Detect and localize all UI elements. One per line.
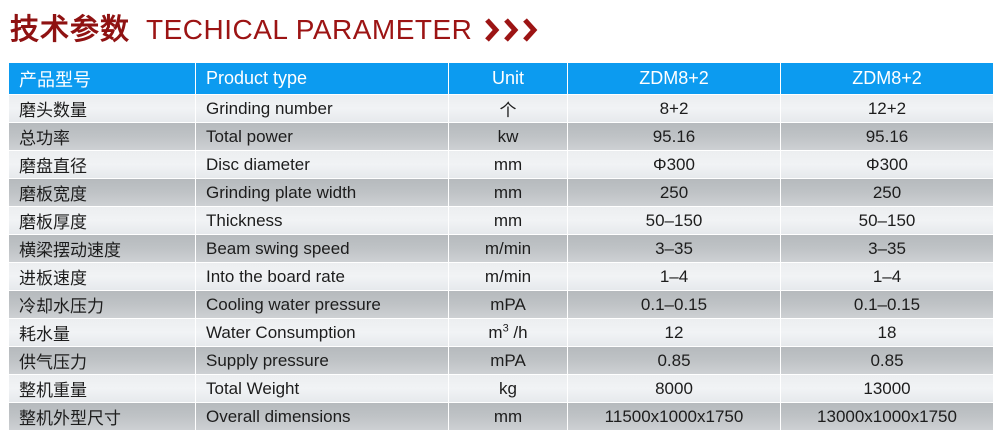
cell-name-en: Into the board rate [196, 263, 448, 290]
cell-unit: m3 /h [449, 319, 567, 346]
table-row: 磨盘直径Disc diametermmΦ300Φ300 [9, 151, 993, 178]
table-row: 总功率Total powerkw95.1695.16 [9, 123, 993, 150]
cell-unit: kw [449, 123, 567, 150]
cell-name-cn: 磨板宽度 [9, 179, 195, 206]
cell-name-en: Supply pressure [196, 347, 448, 374]
cell-name-cn: 整机重量 [9, 375, 195, 402]
cell-unit: m/min [449, 263, 567, 290]
column-header-model-1: ZDM8+2 [568, 63, 780, 94]
cell-name-en: Total power [196, 123, 448, 150]
table-row: 耗水量Water Consumptionm3 /h1218 [9, 319, 993, 346]
cell-model-1: 11500x1000x1750 [568, 403, 780, 430]
cell-name-cn: 总功率 [9, 123, 195, 150]
cell-name-cn: 冷却水压力 [9, 291, 195, 318]
table-row: 横梁摆动速度Beam swing speedm/min3–353–35 [9, 235, 993, 262]
cell-model-1: 95.16 [568, 123, 780, 150]
cell-name-cn: 供气压力 [9, 347, 195, 374]
spec-table-wrapper: 产品型号 Product type Unit ZDM8+2 ZDM8+2 磨头数… [8, 62, 992, 431]
table-row: 进板速度Into the board ratem/min1–41–4 [9, 263, 993, 290]
cell-unit: mm [449, 403, 567, 430]
cell-model-2: 13000x1000x1750 [781, 403, 993, 430]
page-title-chinese: 技术参数 [10, 16, 130, 45]
cell-name-cn: 耗水量 [9, 319, 195, 346]
cell-name-en: Grinding number [196, 95, 448, 122]
cell-model-2: Φ300 [781, 151, 993, 178]
cell-model-1: 0.1–0.15 [568, 291, 780, 318]
cell-model-1: 8000 [568, 375, 780, 402]
cell-name-cn: 进板速度 [9, 263, 195, 290]
cell-name-cn: 磨盘直径 [9, 151, 195, 178]
technical-parameter-table: 产品型号 Product type Unit ZDM8+2 ZDM8+2 磨头数… [8, 62, 994, 431]
cell-name-en: Water Consumption [196, 319, 448, 346]
cell-name-en: Cooling water pressure [196, 291, 448, 318]
column-header-product-type-cn: 产品型号 [9, 63, 195, 94]
page-title-english: TECHICAL PARAMETER [146, 16, 472, 44]
table-row: 冷却水压力Cooling water pressuremPA0.1–0.150.… [9, 291, 993, 318]
cell-model-1: 8+2 [568, 95, 780, 122]
cell-unit: kg [449, 375, 567, 402]
cell-model-1: 0.85 [568, 347, 780, 374]
cell-name-en: Thickness [196, 207, 448, 234]
cell-model-2: 18 [781, 319, 993, 346]
table-row: 磨头数量Grinding number个8+212+2 [9, 95, 993, 122]
table-row: 供气压力Supply pressuremPA0.850.85 [9, 347, 993, 374]
cell-name-en: Beam swing speed [196, 235, 448, 262]
cell-model-1: Φ300 [568, 151, 780, 178]
cell-model-2: 95.16 [781, 123, 993, 150]
double-chevron-right-icon [484, 17, 540, 43]
column-header-product-type-en: Product type [196, 63, 448, 94]
cell-name-cn: 磨板厚度 [9, 207, 195, 234]
cell-model-1: 3–35 [568, 235, 780, 262]
cell-name-en: Total Weight [196, 375, 448, 402]
cell-model-2: 0.85 [781, 347, 993, 374]
cell-name-cn: 整机外型尺寸 [9, 403, 195, 430]
table-row: 磨板厚度Thicknessmm50–15050–150 [9, 207, 993, 234]
cell-model-1: 50–150 [568, 207, 780, 234]
table-body: 磨头数量Grinding number个8+212+2总功率Total powe… [9, 95, 993, 430]
cell-unit: mm [449, 179, 567, 206]
cell-model-2: 0.1–0.15 [781, 291, 993, 318]
cell-name-en: Grinding plate width [196, 179, 448, 206]
cell-model-2: 250 [781, 179, 993, 206]
cell-unit: mPA [449, 291, 567, 318]
cell-unit: m/min [449, 235, 567, 262]
cell-model-2: 1–4 [781, 263, 993, 290]
cell-name-en: Disc diameter [196, 151, 448, 178]
cell-model-2: 3–35 [781, 235, 993, 262]
column-header-model-2: ZDM8+2 [781, 63, 993, 94]
cell-model-2: 13000 [781, 375, 993, 402]
cell-unit: mm [449, 151, 567, 178]
cell-model-1: 12 [568, 319, 780, 346]
table-row: 整机外型尺寸Overall dimensionsmm11500x1000x175… [9, 403, 993, 430]
cell-model-2: 12+2 [781, 95, 993, 122]
cell-model-1: 250 [568, 179, 780, 206]
cell-name-cn: 磨头数量 [9, 95, 195, 122]
cell-model-1: 1–4 [568, 263, 780, 290]
page-title-bar: 技术参数 TECHICAL PARAMETER [10, 8, 540, 52]
column-header-unit: Unit [449, 63, 567, 94]
cell-model-2: 50–150 [781, 207, 993, 234]
table-header-row: 产品型号 Product type Unit ZDM8+2 ZDM8+2 [9, 63, 993, 94]
cell-unit: mm [449, 207, 567, 234]
cell-name-en: Overall dimensions [196, 403, 448, 430]
table-row: 磨板宽度Grinding plate widthmm250250 [9, 179, 993, 206]
table-row: 整机重量Total Weightkg800013000 [9, 375, 993, 402]
cell-unit: 个 [449, 95, 567, 122]
cell-unit: mPA [449, 347, 567, 374]
cell-name-cn: 横梁摆动速度 [9, 235, 195, 262]
